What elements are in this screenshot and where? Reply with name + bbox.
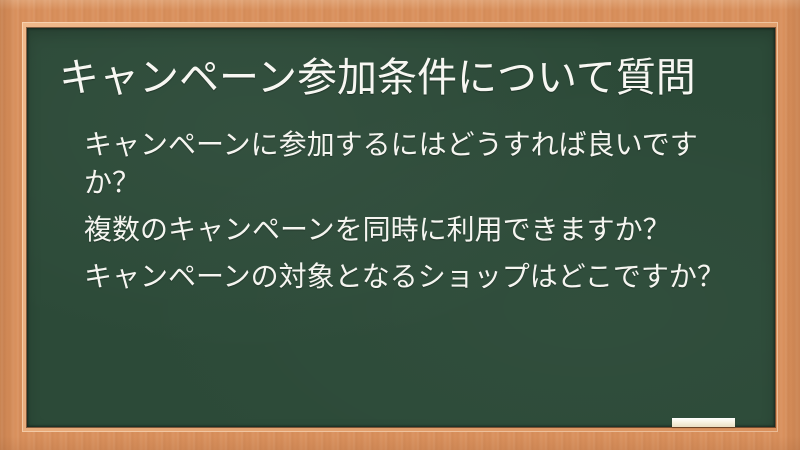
list-item: キャンペーンに参加するにはどうすれば良いですか？ (84, 126, 746, 202)
list-item: キャンペーンの対象となるショップはどこですか？ (84, 258, 746, 296)
list-item: 複数のキャンペーンを同時に利用できますか？ (84, 211, 746, 249)
chalkboard-slide: キャンペーン参加条件について質問 キャンペーンに参加するにはどうすれば良いですか… (0, 0, 800, 450)
question-list: キャンペーンに参加するにはどうすれば良いですか？ 複数のキャンペーンを同時に利用… (84, 126, 746, 305)
chalkboard-surface: キャンペーン参加条件について質問 キャンペーンに参加するにはどうすれば良いですか… (27, 28, 775, 427)
chalk-stick-icon (672, 418, 735, 427)
page-title: キャンペーン参加条件について質問 (59, 54, 759, 102)
